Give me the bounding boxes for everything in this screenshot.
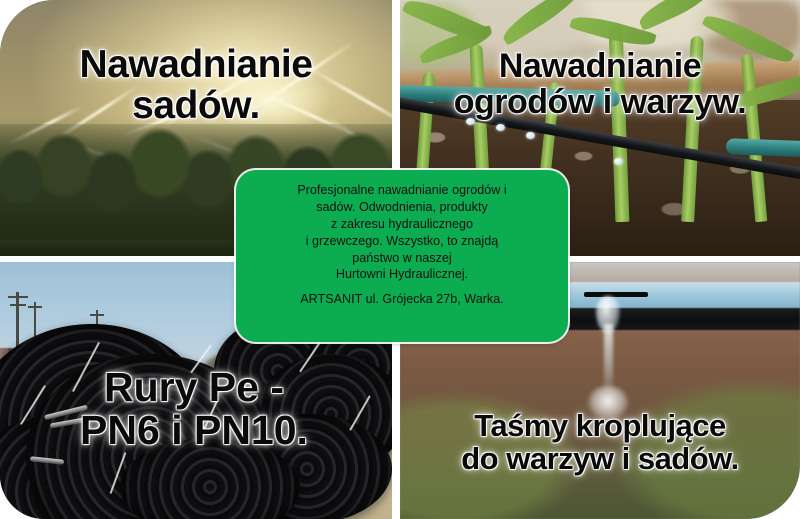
water-droplet (614, 158, 623, 165)
callout-body-text: Profesjonalne nawadnianie ogrodów i sadó… (252, 182, 552, 283)
green-info-callout: Profesjonalne nawadnianie ogrodów i sadó… (236, 170, 568, 342)
drip-emitter (584, 292, 648, 297)
promotional-collage: Nawadnianie sadów. Nawadnianie ogrodów i… (0, 0, 800, 519)
caption-drip-tape: Taśmy kroplujące do warzyw i sadów. (404, 410, 796, 476)
water-droplet (526, 132, 535, 139)
caption-pe-pipes: Rury Pe - PN6 i PN10. (24, 366, 364, 453)
callout-address-text: ARTSANIT ul. Grójecka 27b, Warka. (252, 292, 552, 306)
water-droplet (496, 124, 505, 131)
caption-garden-vegetable-irrigation: Nawadnianie ogrodów i warzyw. (408, 48, 792, 120)
caption-orchard-irrigation: Nawadnianie sadów. (24, 44, 368, 127)
